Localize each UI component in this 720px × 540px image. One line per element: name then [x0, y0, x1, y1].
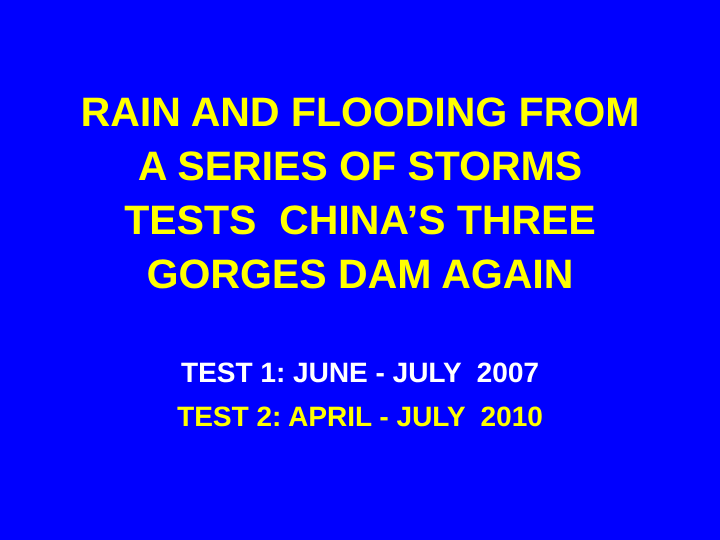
- title-line-3: TESTS CHINA’S THREE: [18, 193, 702, 247]
- title-line-2: A SERIES OF STORMS: [18, 139, 702, 193]
- title-line-4: GORGES DAM AGAIN: [18, 247, 702, 301]
- presentation-slide: RAIN AND FLOODING FROM A SERIES OF STORM…: [0, 0, 720, 540]
- slide-title: RAIN AND FLOODING FROM A SERIES OF STORM…: [0, 85, 720, 301]
- subtitle-line-test-1: TEST 1: JUNE - JULY 2007: [30, 351, 690, 395]
- subtitle-line-test-2: TEST 2: APRIL - JULY 2010: [30, 395, 690, 439]
- slide-subtitle: TEST 1: JUNE - JULY 2007 TEST 2: APRIL -…: [0, 351, 720, 439]
- slide-content-area: RAIN AND FLOODING FROM A SERIES OF STORM…: [0, 0, 720, 540]
- title-line-1: RAIN AND FLOODING FROM: [18, 85, 702, 139]
